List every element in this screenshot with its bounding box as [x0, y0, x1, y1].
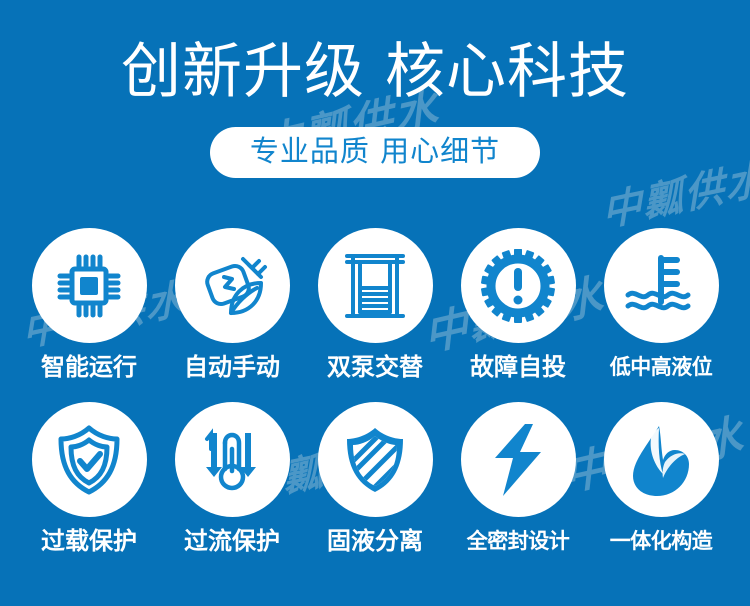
- feature-item-integrated-structure[interactable]: 一体化构造: [592, 402, 730, 556]
- feature-label: 一体化构造: [610, 526, 713, 556]
- subtitle-section: 专业品质 用心细节: [0, 127, 750, 178]
- gear-alert-icon: [481, 249, 555, 323]
- lightning-bolt-icon: [489, 422, 547, 498]
- icon-circle: [318, 228, 433, 343]
- icon-circle: [604, 228, 719, 343]
- shield-check-icon: [53, 423, 125, 497]
- dual-pump-icon: [342, 250, 408, 322]
- feature-label: 自动手动: [184, 352, 280, 382]
- chip-icon: [53, 250, 125, 322]
- feature-label: 过载保护: [41, 526, 137, 556]
- feature-label: 双泵交替: [327, 352, 423, 382]
- page-title: 创新升级 核心科技: [121, 36, 629, 108]
- feature-item-solid-liquid-separation[interactable]: 固液分离: [306, 402, 444, 556]
- shield-stripes-icon: [339, 423, 411, 497]
- feature-row-2: 过载保护: [20, 402, 730, 556]
- feature-item-fault-switch[interactable]: 故障自投: [449, 228, 587, 382]
- feature-item-liquid-level[interactable]: 低中高液位: [592, 228, 730, 382]
- feature-grid: 智能运行: [20, 228, 730, 556]
- icon-circle: [461, 402, 576, 517]
- feature-row-1: 智能运行: [20, 228, 730, 382]
- title-section: 创新升级 核心科技: [0, 36, 750, 108]
- feature-label: 过流保护: [184, 526, 280, 556]
- plug-leaf-icon: [195, 249, 269, 323]
- feature-label: 故障自投: [470, 352, 566, 382]
- feature-item-overload-protection[interactable]: 过载保护: [20, 402, 158, 556]
- icon-circle: [32, 228, 147, 343]
- water-drop-leaf-icon: [625, 422, 697, 498]
- icon-circle: [175, 402, 290, 517]
- feature-label: 固液分离: [327, 526, 423, 556]
- feature-item-fully-sealed-design[interactable]: 全密封设计: [449, 402, 587, 556]
- icon-circle: [461, 228, 576, 343]
- icon-circle: [175, 228, 290, 343]
- feature-label: 低中高液位: [610, 352, 713, 382]
- feature-item-dual-pump[interactable]: 双泵交替: [306, 228, 444, 382]
- icon-circle: [604, 402, 719, 517]
- subtitle-pill: 专业品质 用心细节: [210, 127, 540, 178]
- feature-label: 智能运行: [41, 352, 137, 382]
- liquid-level-icon: [622, 250, 700, 322]
- feature-item-overcurrent-protection[interactable]: 过流保护: [163, 402, 301, 556]
- icon-circle: [32, 402, 147, 517]
- icon-circle: [318, 402, 433, 517]
- feature-label: 全密封设计: [467, 526, 570, 556]
- promo-poster: 中瓤供水 中瓤供水 中瓤供水 中瓤供水 中瓤供水 中瓤供水 创新升级 核心科技 …: [0, 0, 750, 606]
- feature-item-auto-manual[interactable]: 自动手动: [163, 228, 301, 382]
- thermometer-arrows-icon: [197, 423, 267, 497]
- feature-item-smart-operation[interactable]: 智能运行: [20, 228, 158, 382]
